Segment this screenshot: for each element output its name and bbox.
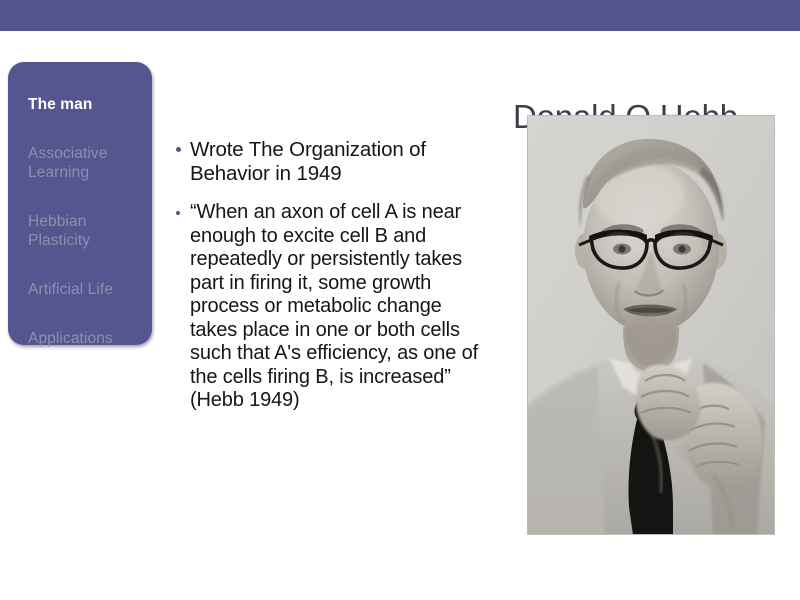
sidebar-item-label: The man	[28, 96, 92, 113]
sidebar-item-applications[interactable]: Applications	[8, 310, 152, 348]
slide: The man Associative Learning Hebbian Pla…	[0, 0, 800, 600]
bullet-text: Wrote The Organization of Behavior in 19…	[190, 138, 492, 185]
list-item: “When an axon of cell A is near enough t…	[172, 201, 492, 413]
sidebar-item-hebbian-plasticity[interactable]: Hebbian Plasticity	[8, 193, 152, 250]
bullet-list: Wrote The Organization of Behavior in 19…	[172, 138, 492, 429]
sidebar-item-label: Artificial Life	[28, 281, 113, 298]
portrait-photo-graphic	[527, 115, 775, 535]
bullet-dot-icon	[176, 211, 180, 215]
portrait-photo	[527, 115, 775, 535]
sidebar-nav-panel: The man Associative Learning Hebbian Pla…	[8, 62, 152, 345]
sidebar-item-artificial-life[interactable]: Artificial Life	[8, 261, 152, 299]
list-item: Wrote The Organization of Behavior in 19…	[172, 138, 492, 185]
sidebar-item-label: Applications	[28, 330, 113, 347]
sidebar-item-the-man[interactable]: The man	[8, 76, 152, 114]
top-accent-bar	[0, 0, 800, 31]
sidebar-item-label: Associative Learning	[28, 145, 108, 181]
bullet-text: “When an axon of cell A is near enough t…	[190, 201, 492, 413]
sidebar-item-label: Hebbian Plasticity	[28, 213, 90, 249]
sidebar-item-associative-learning[interactable]: Associative Learning	[8, 125, 152, 182]
bullet-dot-icon	[176, 147, 181, 152]
